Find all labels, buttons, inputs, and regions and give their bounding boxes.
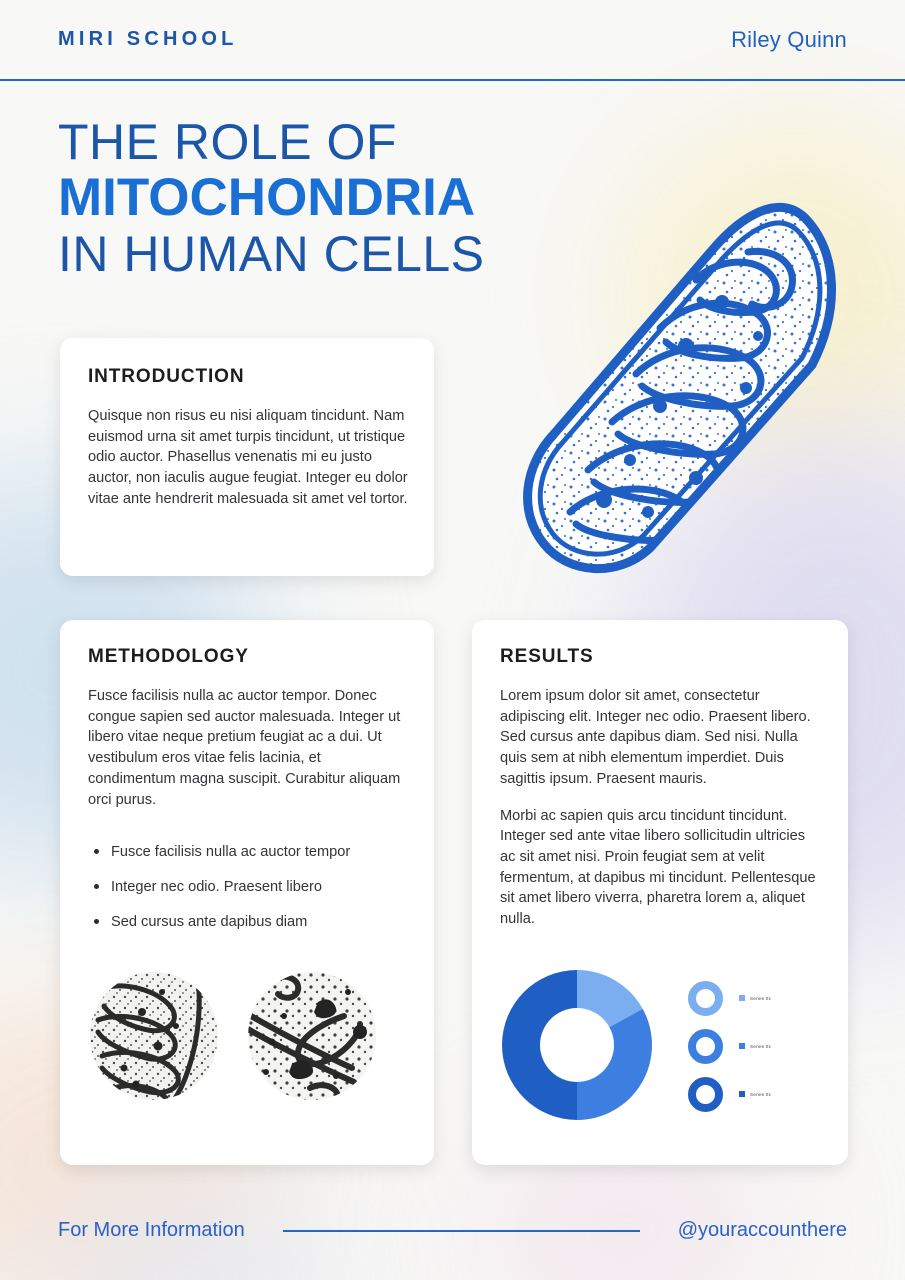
mitochondrion-illustration [500,160,860,580]
legend-ring-2 [688,1029,723,1064]
page-footer: For More Information @youraccounthere [0,1219,905,1242]
list-item: Fusce facilisis nulla ac auctor tempor [90,842,410,862]
footer-divider [283,1230,640,1232]
list-item: Sed cursus ante dapibus diam [90,912,410,932]
legend-ring-3 [688,1077,723,1112]
title-line-1: THE ROLE OF [58,116,485,168]
legend-label-3: Series 01 [750,1092,771,1097]
micrograph-left [90,972,218,1100]
legend-swatch-1 [739,995,745,1001]
micrograph-right [248,972,376,1100]
legend-swatch-2 [739,1043,745,1049]
list-item: Integer nec odio. Praesent libero [90,877,410,897]
title-line-2: MITOCHONDRIA [58,170,485,225]
chart-legend: Series 01 Series 01 Series 01 [688,974,771,1118]
legend-label-1: Series 01 [750,996,771,1001]
social-handle: @youraccounthere [678,1219,847,1242]
results-card: RESULTS Lorem ipsum dolor sit amet, cons… [472,620,848,1165]
page-title: THE ROLE OF MITOCHONDRIA IN HUMAN CELLS [58,116,485,280]
author-name: Riley Quinn [731,27,847,53]
introduction-card: INTRODUCTION Quisque non risus eu nisi a… [60,338,434,576]
methodology-bullet-list: Fusce facilisis nulla ac auctor tempor I… [90,842,410,947]
legend-ring-1 [688,981,723,1016]
more-info-label: For More Information [58,1219,245,1242]
legend-swatch-3 [739,1091,745,1097]
poster: MIRI SCHOOL Riley Quinn THE ROLE OF MITO… [0,0,905,1280]
methodology-text: Fusce facilisis nulla ac auctor tempor. … [88,686,406,810]
legend-item: Series 01 [688,1022,771,1070]
legend-label-2: Series 01 [750,1044,771,1049]
results-text: Lorem ipsum dolor sit amet, consectetur … [500,686,820,930]
micrograph-row [90,972,376,1100]
results-paragraph-1: Lorem ipsum dolor sit amet, consectetur … [500,686,820,790]
introduction-text: Quisque non risus eu nisi aliquam tincid… [88,406,408,510]
methodology-title: METHODOLOGY [88,646,249,668]
methodology-card: METHODOLOGY Fusce facilisis nulla ac auc… [60,620,434,1165]
school-name: MIRI SCHOOL [58,28,238,51]
results-title: RESULTS [500,646,594,668]
legend-item: Series 01 [688,1070,771,1118]
title-line-3: IN HUMAN CELLS [58,228,485,280]
introduction-title: INTRODUCTION [88,366,244,388]
page-header: MIRI SCHOOL Riley Quinn [0,0,905,81]
results-paragraph-2: Morbi ac sapien quis arcu tincidunt tinc… [500,806,820,930]
legend-item: Series 01 [688,974,771,1022]
donut-chart [502,970,652,1120]
results-chart: Series 01 Series 01 Series 01 [502,968,822,1133]
